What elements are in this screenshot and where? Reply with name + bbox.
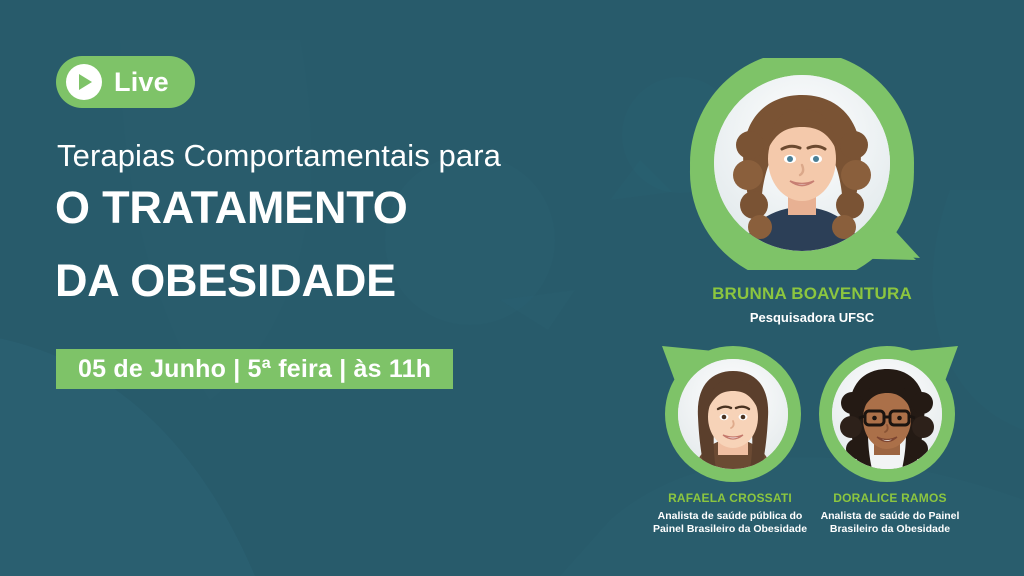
speaker-role-main: Pesquisadora UFSC [688, 310, 936, 326]
speaker-role-right: Analista de saúde do Painel Brasileiro d… [808, 510, 972, 536]
poster-canvas: Live Terapias Comportamentais para O TRA… [0, 0, 1024, 576]
speaker-name-right: DORALICE RAMOS [808, 492, 972, 506]
speech-bubble-frame [688, 58, 936, 270]
speaker-name-left: RAFAELA CROSSATI [648, 492, 812, 506]
event-date-bar: 05 de Junho | 5ª feira | às 11h [56, 349, 453, 389]
speech-bubble-frame [648, 338, 812, 482]
speaker-card-left: RAFAELA CROSSATI Analista de saúde públi… [648, 338, 812, 536]
live-badge[interactable]: Live [56, 56, 195, 108]
play-icon [66, 64, 102, 100]
speaker-photo-left [678, 359, 788, 469]
speaker-card-main: BRUNNA BOAVENTURA Pesquisadora UFSC [688, 58, 936, 326]
title-kicker: Terapias Comportamentais para [57, 138, 501, 174]
event-date-text: 05 de Junho | 5ª feira | às 11h [78, 355, 431, 384]
speaker-role-left: Analista de saúde pública do Painel Bras… [648, 510, 812, 536]
speaker-name-main: BRUNNA BOAVENTURA [688, 284, 936, 304]
title-line-1: O TRATAMENTO [55, 182, 408, 234]
speaker-photo-main [714, 75, 890, 251]
speech-bubble-frame [808, 338, 972, 482]
live-badge-label: Live [114, 69, 169, 96]
title-line-2: DA OBESIDADE [55, 255, 396, 307]
speaker-photo-right [832, 359, 942, 469]
speaker-card-right: DORALICE RAMOS Analista de saúde do Pain… [808, 338, 972, 536]
